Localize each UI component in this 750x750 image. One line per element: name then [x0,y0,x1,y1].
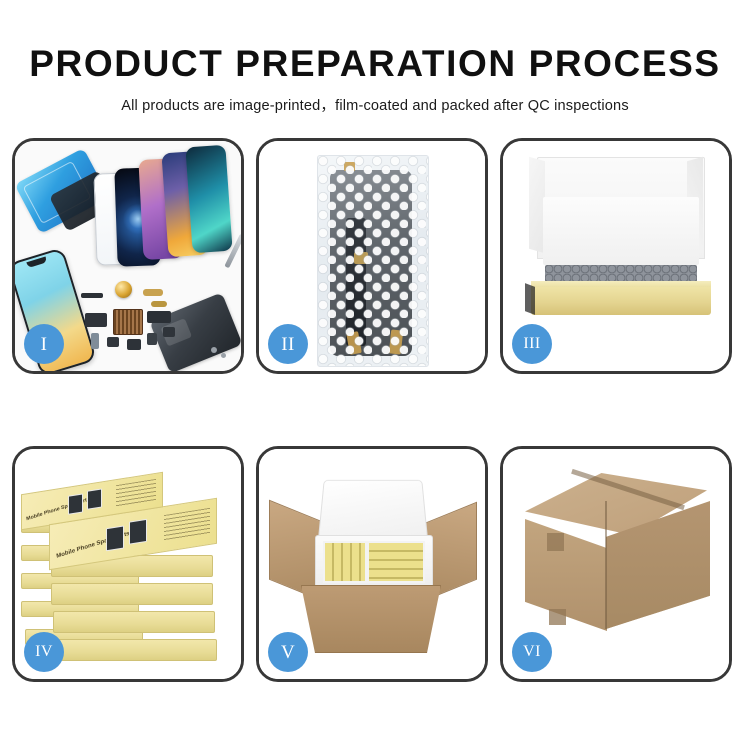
process-step-panel-2[interactable]: II [256,138,488,374]
carton-tape-mark-icon [547,533,564,551]
phone-teal-wallpaper-icon [185,145,232,254]
white-foam-sheet-icon [543,197,699,265]
gold-connector-small-icon [151,301,167,307]
page-subtitle: All products are image-printed，film-coat… [0,94,750,115]
kraft-box-front-icon [531,287,711,315]
process-step-panel-4[interactable]: Mobile Phone Spare Parts Mobile Phone Sp… [12,446,244,682]
screw-icon [211,347,217,353]
button-module-icon [147,333,157,345]
bubble-wrap-bag-icon [317,155,429,367]
box-window-image [129,519,147,545]
box-window-image [106,525,124,551]
sim-tray-icon [91,333,99,349]
camera-module-icon [107,337,119,347]
process-steps-grid: I II [12,138,740,682]
foam-cooler-lid-icon [318,480,428,540]
flex-cable-icon [85,313,107,327]
process-step-panel-5[interactable]: V [256,446,488,682]
yellow-box-group-left [325,543,365,581]
box-window-image [68,493,83,514]
stacked-box [51,583,213,605]
bubble-highlight-texture [318,156,428,366]
step-badge-2: II [268,324,308,364]
box-side-shadow-icon [525,283,535,315]
copper-grid-chip-icon [113,309,143,335]
box-spec-lines [164,508,210,541]
process-step-panel-3[interactable]: III [500,138,732,374]
carton-front-icon [301,585,441,653]
process-step-panel-1[interactable]: I [12,138,244,374]
step-badge-3: III [512,324,552,364]
carton-vertical-edge-icon [605,501,607,629]
stacked-box [55,639,217,661]
sensor-module-icon [163,327,175,337]
process-step-panel-6[interactable]: VI [500,446,732,682]
step-badge-5: V [268,632,308,672]
speaker-module-icon [115,281,132,298]
box-window-image [87,488,102,509]
yellow-box-group-right [369,543,423,581]
box-spec-lines [116,479,156,507]
header: PRODUCT PREPARATION PROCESS All products… [0,44,750,115]
vibrator-module-icon [127,339,141,350]
stacked-box [53,611,215,633]
step-badge-4: IV [24,632,64,672]
step-badge-6: VI [512,632,552,672]
component-bar-icon [81,293,103,298]
flex-cable-icon [147,311,171,323]
page-title: PRODUCT PREPARATION PROCESS [0,44,750,83]
step-badge-1: I [24,324,64,364]
gold-connector-icon [143,289,163,296]
packed-yellow-boxes-icon [323,541,425,583]
screw-icon [221,353,226,358]
carton-tape-mark-icon [549,609,566,625]
product-preparation-process-page: PRODUCT PREPARATION PROCESS All products… [0,0,750,750]
